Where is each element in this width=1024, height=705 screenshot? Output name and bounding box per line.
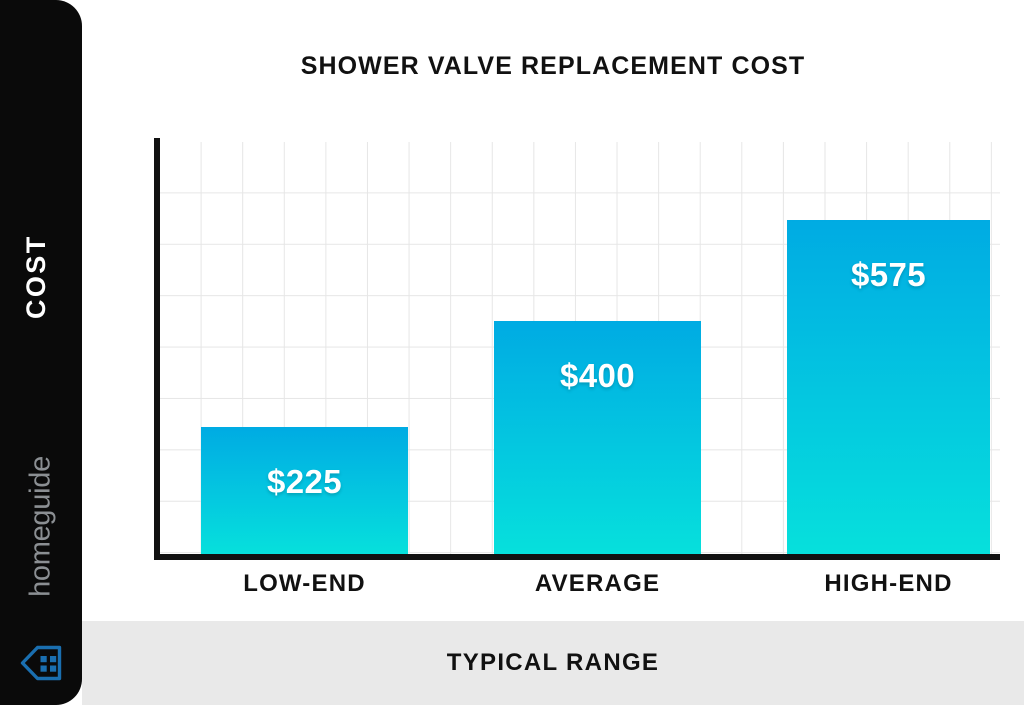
y-axis-title: COST [21, 237, 52, 319]
chart-bars: $225 $400 $575 [160, 142, 1000, 554]
chart-category-labels: LOW-END AVERAGE HIGH-END [160, 570, 1000, 606]
brand-name: homeguide [25, 455, 58, 599]
bar-high-end: $575 [787, 220, 990, 554]
bar-average: $400 [494, 321, 701, 554]
category-label-average: AVERAGE [494, 570, 701, 598]
homeguide-house-tag-icon [20, 645, 62, 681]
footer-band: TYPICAL RANGE [82, 621, 1024, 705]
bar-low-end: $225 [201, 427, 408, 554]
category-label-high-end: HIGH-END [787, 570, 990, 598]
category-label-low-end: LOW-END [201, 570, 408, 598]
x-axis-title: TYPICAL RANGE [82, 649, 1024, 677]
infographic-root: COST homeguide SHOWER VALVE REPLACEMENT … [0, 0, 1024, 705]
bar-value-average: $400 [494, 357, 701, 395]
bar-value-low-end: $225 [201, 463, 408, 501]
chart-plot-area: $225 $400 $575 [160, 142, 1000, 554]
sidebar: COST homeguide [0, 0, 82, 705]
sidebar-inner: COST homeguide [0, 0, 82, 705]
bar-value-high-end: $575 [787, 256, 990, 294]
main-panel: SHOWER VALVE REPLACEMENT COST $225 $400 … [82, 0, 1024, 705]
chart-x-axis-line [154, 554, 1000, 560]
page-title: SHOWER VALVE REPLACEMENT COST [82, 52, 1024, 81]
